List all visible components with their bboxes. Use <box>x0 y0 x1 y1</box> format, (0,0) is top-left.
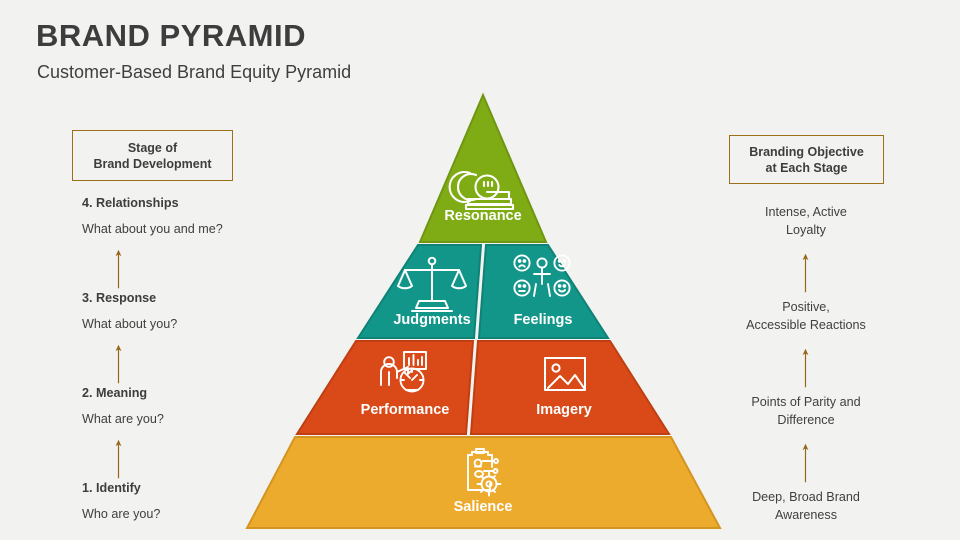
performance-shape[interactable] <box>297 341 473 434</box>
tier-label-salience: Salience <box>454 499 513 515</box>
brand-pyramid-diagram: Resonance Judgments <box>0 0 960 540</box>
pyramid-tier-response: Judgments <box>358 245 608 338</box>
pyramid-tier-meaning: Performance Imagery <box>297 341 669 434</box>
tier-label-performance: Performance <box>361 402 450 418</box>
tier-label-resonance: Resonance <box>444 208 521 224</box>
slide-canvas: BRAND PYRAMID Customer-Based Brand Equit… <box>0 0 960 540</box>
tier-label-imagery: Imagery <box>536 402 592 418</box>
pyramid-tier-resonance[interactable]: Resonance <box>420 95 546 242</box>
tier-label-judgments: Judgments <box>393 312 470 328</box>
tier-label-feelings: Feelings <box>514 312 573 328</box>
pyramid-tier-identify: Salience <box>247 437 720 528</box>
imagery-shape[interactable] <box>471 341 669 434</box>
